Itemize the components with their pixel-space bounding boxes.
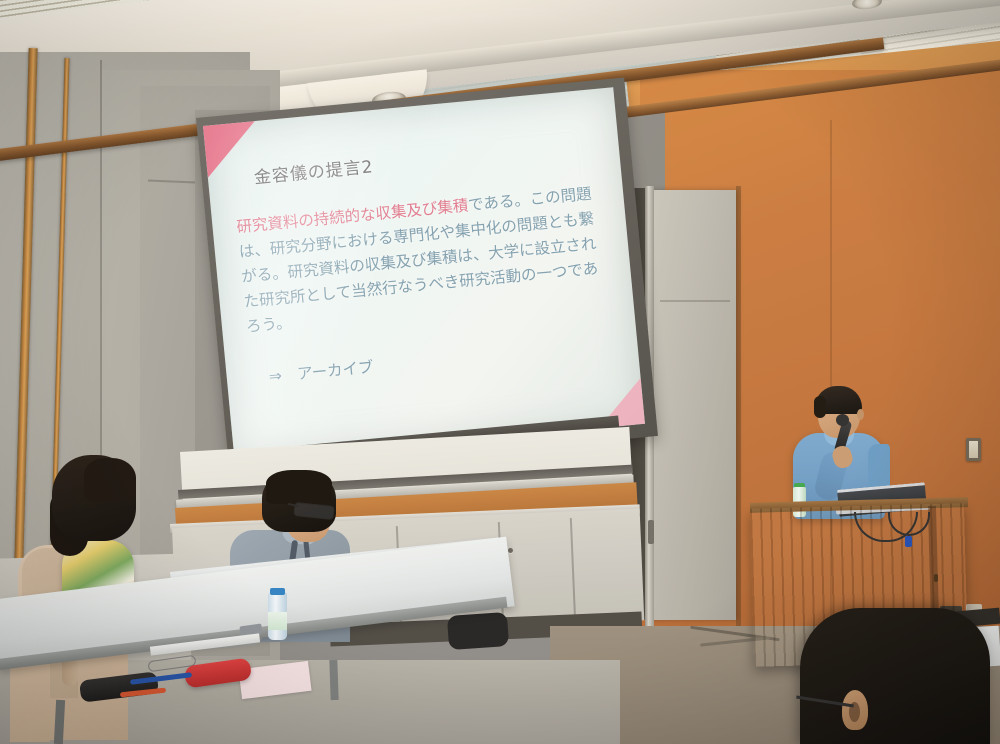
- blue-cable-clip: [905, 536, 912, 547]
- partition-right-edge: [736, 186, 741, 626]
- chair-3[interactable]: [447, 612, 509, 650]
- speaker-ear: [857, 409, 864, 420]
- seminar-room-photo: 金容儀の提言2 研究資料の持続的な収集及び集積である。この問題は、研究分野におけ…: [0, 0, 1000, 744]
- cabinet-handle-6[interactable]: [508, 548, 513, 553]
- foreground-person-head: [800, 608, 990, 744]
- man-hair-fringe: [266, 470, 332, 504]
- partition-handle[interactable]: [648, 520, 654, 544]
- light-switch-toggle[interactable]: [969, 441, 978, 458]
- podium-fastener: [934, 574, 938, 582]
- water-bottle-table-1-label: [268, 612, 287, 630]
- speaker-hair-side: [814, 396, 826, 418]
- sliding-partition-door[interactable]: [648, 190, 736, 620]
- water-bottle-table-1-cap: [270, 588, 285, 595]
- table-leg-2: [329, 660, 338, 700]
- woman-hair-front: [84, 458, 136, 502]
- partition-seam: [660, 300, 730, 302]
- speaker-microphone-head: [836, 414, 849, 426]
- presentation-slide: 金容儀の提言2 研究資料の持続的な収集及び集積である。この問題は、研究分野におけ…: [203, 87, 645, 462]
- projection-screen: 金容儀の提言2 研究資料の持続的な収集及び集積である。この問題は、研究分野におけ…: [203, 87, 645, 462]
